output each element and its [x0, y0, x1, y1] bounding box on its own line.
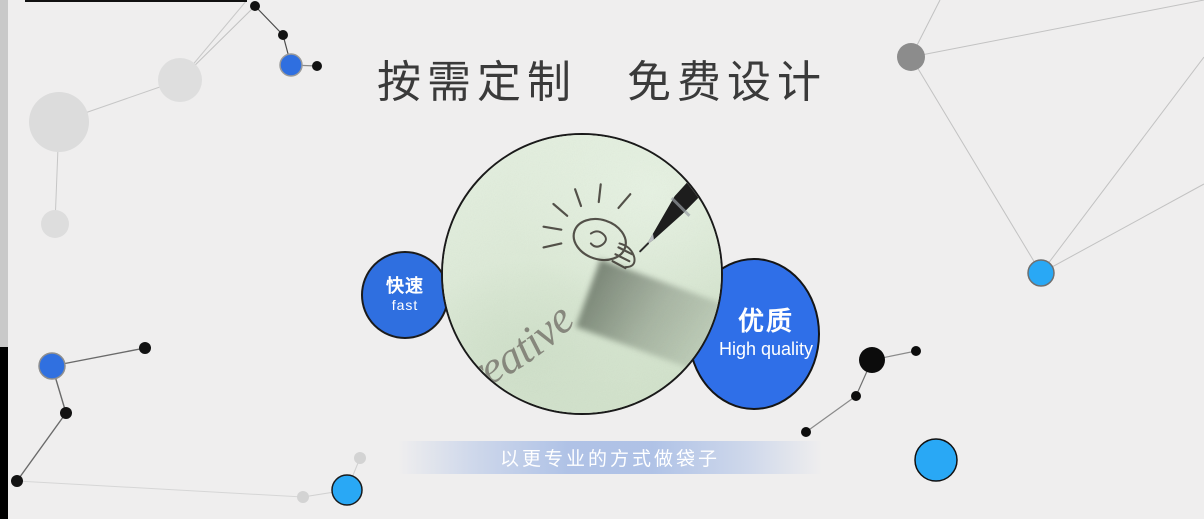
network-node	[60, 407, 72, 419]
network-edge	[303, 490, 347, 497]
slogan-text: 以更专业的方式做袋子	[500, 444, 720, 471]
network-edge	[255, 6, 283, 35]
network-node	[39, 353, 65, 379]
network-node	[859, 347, 885, 373]
network-node	[354, 452, 366, 464]
network-node	[297, 491, 309, 503]
network-node	[851, 391, 861, 401]
network-node	[915, 439, 957, 481]
network-edge	[52, 348, 145, 366]
network-edge	[856, 360, 872, 396]
network-node	[11, 475, 23, 487]
network-node	[41, 210, 69, 238]
network-node	[278, 30, 288, 40]
network-edge	[55, 122, 59, 224]
creative-photo-circle: creative	[441, 133, 723, 415]
network-edge	[347, 458, 360, 490]
network-node	[801, 427, 811, 437]
slogan-bar: 以更专业的方式做袋子	[398, 441, 822, 474]
network-edge	[806, 396, 856, 432]
network-node	[139, 342, 151, 354]
top-edge-rule	[25, 0, 247, 2]
badge-quality-label-en: High quality	[719, 337, 813, 362]
left-edge-black-strip	[0, 347, 8, 519]
network-edge	[17, 481, 303, 497]
badge-fast[interactable]: 快速 fast	[361, 251, 449, 339]
photo-contents: creative	[443, 135, 721, 413]
network-node	[911, 346, 921, 356]
network-node	[250, 1, 260, 11]
network-node	[1028, 260, 1054, 286]
badge-quality-label-cn: 优质	[738, 306, 794, 337]
pen-icon	[640, 141, 721, 251]
badge-fast-label-en: fast	[392, 296, 419, 314]
network-edge	[52, 366, 66, 413]
network-line	[1041, 184, 1204, 273]
lightbulb-sketch	[544, 184, 635, 268]
promo-banner: 按需定制 免费设计 快速 fast 优质 High quality creati…	[0, 0, 1204, 519]
page-title: 按需定制 免费设计	[0, 46, 1204, 110]
badge-fast-label-cn: 快速	[386, 276, 424, 297]
network-edge	[17, 413, 66, 481]
network-node	[332, 475, 362, 505]
handwriting-creative: creative	[443, 294, 584, 408]
network-edge	[872, 351, 916, 360]
